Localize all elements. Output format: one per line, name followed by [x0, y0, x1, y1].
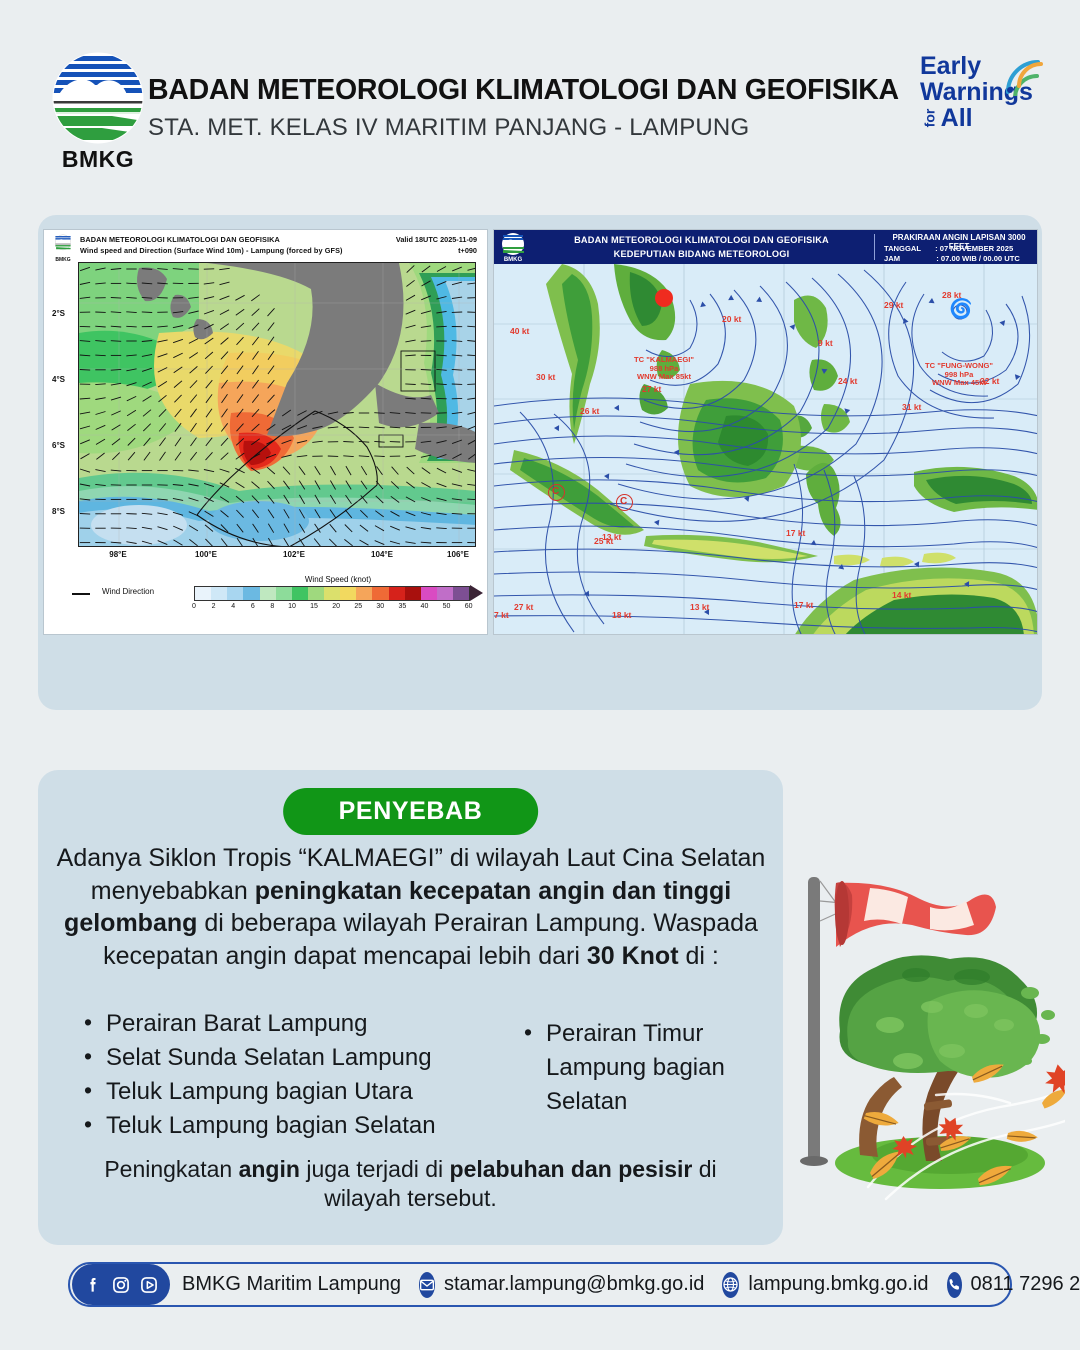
ewfa-for-text: for — [921, 109, 937, 128]
fung-wong-cyclone-icon: 🌀 — [949, 300, 973, 319]
map-left-plot-area — [78, 262, 476, 547]
wind-speed-colorbar — [194, 586, 470, 601]
penyebab-badge: PENYEBAB — [283, 788, 539, 835]
tc-pressure-fungwong: 998 hPa — [945, 370, 974, 379]
affected-areas-column-left: Perairan Barat LampungSelat Sunda Selata… — [76, 1007, 506, 1143]
map-left-forecast-step: t+090 — [458, 246, 477, 255]
bmkg-small-logo-icon: BMKG — [52, 234, 74, 258]
cb-tick-2: 4 — [231, 603, 235, 610]
map-left-valid-time: Valid 18UTC 2025-11-09 — [396, 235, 477, 244]
map-3000ft-wind-forecast[interactable]: BMKG BADAN METEOROLOGI KLIMATOLOGI DAN G… — [493, 229, 1038, 635]
wind-speed-contour-field — [79, 263, 476, 547]
bmkg-small-logo-icon-2: BMKG — [498, 232, 528, 262]
cb-tick-1: 2 — [212, 603, 216, 610]
cb-tick-6: 15 — [310, 603, 318, 610]
kalmaegi-center — [655, 289, 673, 307]
colorbar-arrow-icon — [470, 585, 483, 601]
infographic-page: BMKG BADAN METEOROLOGI KLIMATOLOGI DAN G… — [0, 0, 1080, 1350]
map-left-ylabel-1: 4°S — [52, 375, 65, 384]
map-left-xlabel-4: 106°E — [447, 550, 469, 559]
early-warnings-for-all-logo: Early Warnings for All — [920, 54, 1052, 150]
header-divider — [874, 234, 875, 260]
youtube-icon[interactable] — [137, 1273, 161, 1297]
social-icons-group[interactable] — [72, 1264, 170, 1305]
map-left-xlabel-0: 98°E — [109, 550, 126, 559]
kt-label-8: 31 kt — [902, 402, 921, 412]
cb-tick-13: 60 — [465, 603, 473, 610]
list-item: Perairan Barat Lampung — [76, 1007, 506, 1041]
map-left-ylabel-3: 8°S — [52, 507, 65, 516]
colorbar-ticks: 0 2 4 6 8 10 15 20 25 30 35 40 50 60 — [194, 603, 470, 615]
kt-label-1: 30 kt — [536, 372, 555, 382]
wind-direction-legend-label: Wind Direction — [102, 587, 154, 596]
kt-label-11: 17 kt — [786, 528, 805, 538]
map-left-ylabel-2: 6°S — [52, 441, 65, 450]
low-marker-1: C — [620, 496, 627, 507]
map-left-header: BMKG BADAN METEOROLOGI KLIMATOLOGI DAN G… — [44, 230, 487, 262]
kt-label-17: 13 kt — [690, 602, 709, 612]
cb-tick-3: 6 — [251, 603, 255, 610]
map-surface-wind-lampung[interactable]: BMKG BADAN METEOROLOGI KLIMATOLOGI DAN G… — [43, 229, 488, 635]
phone-icon[interactable] — [947, 1272, 962, 1298]
bmkg-logo: BMKG — [48, 52, 148, 173]
header-titles: BADAN METEOROLOGI KLIMATOLOGI DAN GEOFIS… — [148, 74, 899, 142]
tc-name-kalmaegi: TC "KALMAEGI" — [634, 355, 694, 364]
map-right-header: BMKG BADAN METEOROLOGI KLIMATOLOGI DAN G… — [494, 230, 1037, 264]
map-left-xlabel-2: 102°E — [283, 550, 305, 559]
bmkg-emblem-icon — [52, 52, 144, 144]
list-item: Teluk Lampung bagian Selatan — [76, 1109, 506, 1143]
email-text: stamar.lampung@bmkg.go.id — [444, 1273, 704, 1296]
date-label: TANGGAL — [884, 244, 921, 253]
list-item: Selat Sunda Selatan Lampung — [76, 1041, 506, 1075]
map-right-agency-line2: KEDEPUTIAN BIDANG METEOROLOGI — [534, 249, 869, 259]
time-label: JAM — [884, 254, 900, 263]
map-right-time: JAM : 07.00 WIB / 00.00 UTC — [884, 254, 1020, 263]
colorbar-title: Wind Speed (knot) — [305, 575, 371, 584]
kt-label-7: 32 kt — [980, 376, 999, 386]
kt-label-5: 28 kt — [942, 290, 961, 300]
mail-icon[interactable] — [419, 1272, 435, 1298]
affected-areas-column-right: Perairan Timur Lampung bagian Selatan — [516, 1017, 766, 1119]
windsock-storm-illustration — [790, 855, 1065, 1205]
contact-footer: BMKG Maritim Lampung stamar.lampung@bmkg… — [68, 1262, 1012, 1307]
bmkg-small-logo-text: BMKG — [52, 257, 74, 263]
penyebab-panel: PENYEBAB Adanya Siklon Tropis “KALMAEGI”… — [38, 770, 783, 1245]
globe-icon[interactable] — [722, 1272, 739, 1298]
time-value: : 07.00 WIB / 00.00 UTC — [936, 254, 1020, 263]
list-item: Perairan Timur Lampung bagian Selatan — [516, 1017, 766, 1119]
kt-label-19: 14 kt — [892, 590, 911, 600]
map-left-ylabel-0: 2°S — [52, 309, 65, 318]
bmkg-logo-text: BMKG — [48, 146, 148, 173]
list-item: Teluk Lampung bagian Utara — [76, 1075, 506, 1109]
kt-label-15: 27 kt — [514, 602, 533, 612]
page-title: BADAN METEOROLOGI KLIMATOLOGI DAN GEOFIS… — [148, 74, 899, 107]
map-left-xlabel-3: 104°E — [371, 550, 393, 559]
tc-motion-kalmaegi: WNW Max 85kt — [637, 372, 691, 381]
cb-tick-0: 0 — [192, 603, 196, 610]
kt-label-9: 26 kt — [580, 406, 599, 416]
phone-text: 0811 7296 293 — [971, 1273, 1080, 1296]
cb-tick-12: 50 — [443, 603, 451, 610]
cb-tick-7: 20 — [332, 603, 340, 610]
map-right-date: TANGGAL : 07 NOVEMBER 2025 — [884, 244, 1013, 253]
maps-panel: BMKG BADAN METEOROLOGI KLIMATOLOGI DAN G… — [38, 215, 1042, 710]
tc-label-kalmaegi: TC "KALMAEGI" 988 hPa WNW Max 85kt — [589, 356, 739, 382]
kt-label-13: 9 kt — [818, 338, 833, 348]
cb-tick-5: 10 — [288, 603, 296, 610]
wind-direction-dash-icon — [72, 593, 90, 595]
kt-label-4: 29 kt — [884, 300, 903, 310]
cb-tick-4: 8 — [270, 603, 274, 610]
page-header: BMKG BADAN METEOROLOGI KLIMATOLOGI DAN G… — [0, 0, 1080, 200]
kt-label-3: 27 kt — [642, 384, 661, 394]
penyebab-footnote: Peningkatan angin juga terjadi di pelabu… — [78, 1155, 743, 1214]
page-subtitle: STA. MET. KELAS IV MARITIM PANJANG - LAM… — [148, 114, 899, 142]
svg-text:BMKG: BMKG — [504, 257, 523, 262]
penyebab-paragraph: Adanya Siklon Tropis “KALMAEGI” di wilay… — [56, 842, 766, 972]
kt-label-2: 20 kt — [722, 314, 741, 324]
tc-pressure-kalmaegi: 988 hPa — [650, 364, 679, 373]
website-text: lampung.bmkg.go.id — [748, 1273, 928, 1296]
cb-tick-9: 30 — [376, 603, 384, 610]
tc-motion-fungwong: WNW Max 45kt — [932, 378, 986, 387]
cb-tick-11: 40 — [421, 603, 429, 610]
streamline-chart: 🌀 TC "KALMAEGI" 988 hPa WNW Max 85kt TC … — [494, 264, 1038, 635]
tc-label-fungwong: TC "FUNG-WONG" 998 hPa WNW Max 45kt — [884, 362, 1034, 388]
cb-tick-10: 35 — [398, 603, 406, 610]
map-right-agency-line1: BADAN METEOROLOGI KLIMATOLOGI DAN GEOFIS… — [534, 235, 869, 245]
map-left-product: Wind speed and Direction (Surface Wind 1… — [80, 246, 343, 255]
ewfa-line-3: All — [941, 105, 973, 131]
cb-tick-8: 25 — [354, 603, 362, 610]
map-left-xlabel-1: 100°E — [195, 550, 217, 559]
kt-label-0: 40 kt — [510, 326, 529, 336]
instagram-icon[interactable] — [109, 1273, 133, 1297]
kt-label-16: 17 kt — [794, 600, 813, 610]
kt-label-12: 13 kt — [602, 532, 621, 542]
kt-label-14: 18 kt — [612, 610, 631, 620]
facebook-icon[interactable] — [81, 1273, 105, 1297]
date-value: : 07 NOVEMBER 2025 — [935, 244, 1013, 253]
social-handle-text: BMKG Maritim Lampung — [182, 1273, 401, 1296]
low-marker-0: C — [552, 486, 559, 497]
tc-name-fungwong: TC "FUNG-WONG" — [925, 361, 993, 370]
signal-arc-icon — [1002, 56, 1052, 96]
kt-label-18: 7 kt — [494, 610, 509, 620]
kt-label-6: 24 kt — [838, 376, 857, 386]
map-left-agency: BADAN METEOROLOGI KLIMATOLOGI DAN GEOFIS… — [80, 235, 280, 244]
